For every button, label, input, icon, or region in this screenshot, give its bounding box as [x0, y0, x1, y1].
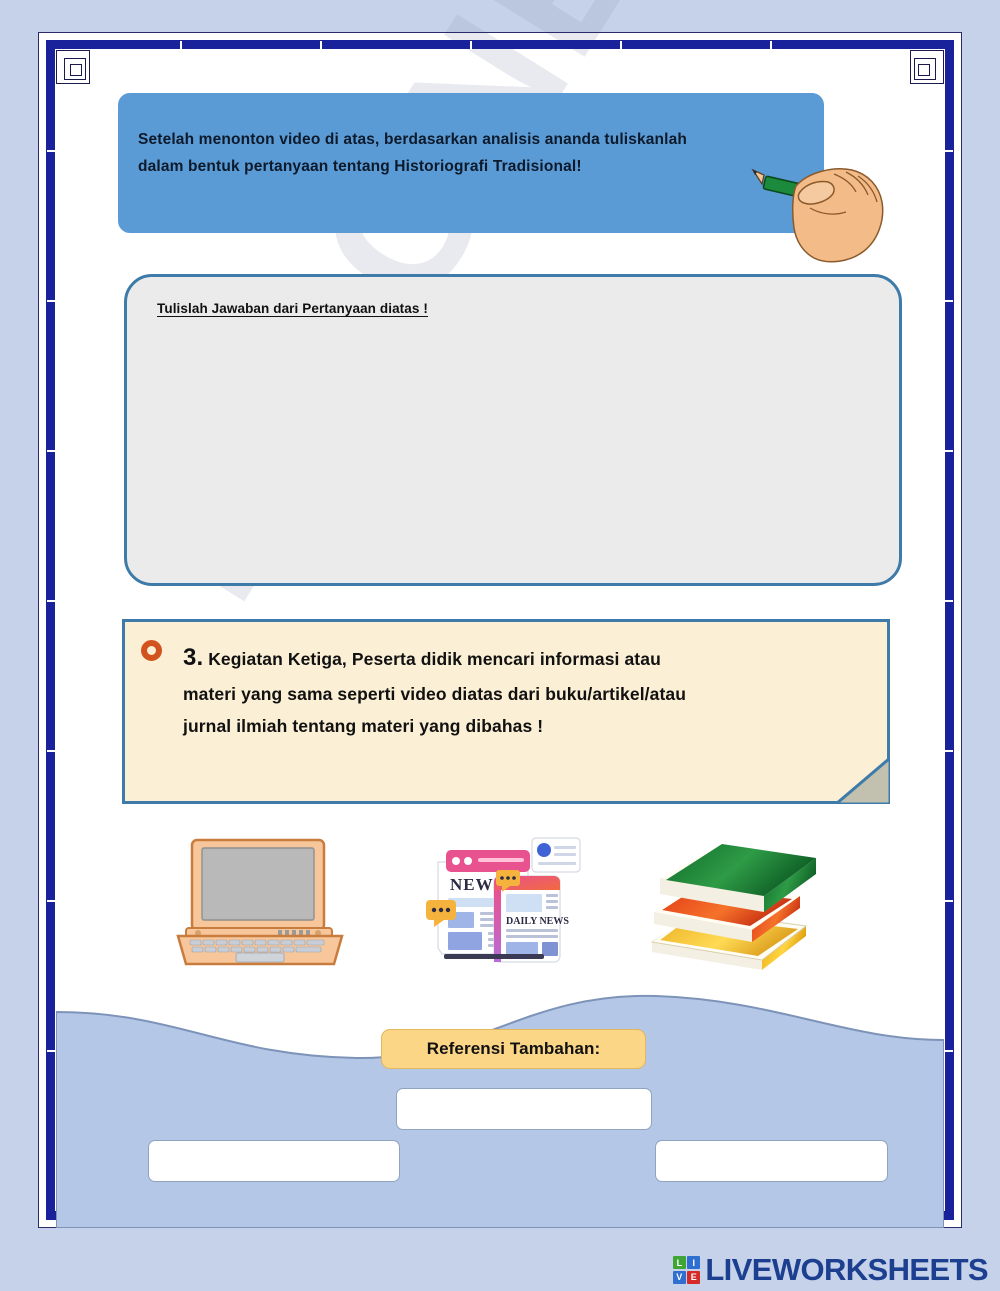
frame-tick	[470, 41, 472, 50]
frame-tick	[47, 450, 56, 452]
frame-tick	[620, 41, 622, 50]
frame-tick	[320, 41, 322, 50]
logo-cell-l: L	[673, 1256, 686, 1269]
reference-blank-left[interactable]	[148, 1140, 400, 1182]
frame-tick	[47, 750, 56, 752]
frame-tick	[944, 300, 953, 302]
activity-note-3: 3. Kegiatan Ketiga, Peserta didik mencar…	[122, 619, 890, 804]
resource-illustrations-row: NEWS	[120, 826, 900, 976]
liveworksheets-logo-mark: L I V E	[673, 1256, 701, 1284]
frame-tick	[180, 41, 182, 50]
logo-cell-i: I	[687, 1256, 700, 1269]
reference-blank-top[interactable]	[396, 1088, 652, 1130]
corner-ornament-top-left-inner	[70, 64, 82, 76]
frame-tick	[944, 150, 953, 152]
books-stack-illustration	[630, 830, 830, 975]
liveworksheets-logo[interactable]: L I V E LIVEWORKSHEETS	[673, 1252, 988, 1288]
reference-label-chip: Referensi Tambahan:	[381, 1029, 646, 1069]
frame-tick	[47, 900, 56, 902]
worksheet-page: INDONESIA Setelah menonton video di atas…	[0, 0, 1000, 1291]
answer-box-label: Tulislah Jawaban dari Pertanyaan diatas …	[157, 301, 899, 316]
logo-cell-v: V	[673, 1271, 686, 1284]
frame-tick	[47, 1050, 56, 1052]
logo-cell-e: E	[687, 1271, 700, 1284]
instruction-callout: Setelah menonton video di atas, berdasar…	[118, 93, 824, 233]
laptop-illustration	[160, 836, 360, 971]
frame-tick	[47, 300, 56, 302]
frame-tick	[944, 1050, 953, 1052]
frame-tick	[770, 41, 772, 50]
frame-tick	[944, 750, 953, 752]
ring-bullet-icon	[141, 640, 162, 661]
hand-with-pencil-icon	[748, 148, 898, 268]
svg-text:DAILY NEWS: DAILY NEWS	[506, 916, 569, 927]
frame-tick	[944, 450, 953, 452]
instruction-text-2-bold: Historiografi Tradisional!	[394, 158, 581, 175]
liveworksheets-wordmark: LIVEWORKSHEETS	[705, 1252, 988, 1288]
activity-line-3: jurnal ilmiah tentang materi yang dibaha…	[183, 716, 543, 736]
instruction-text-1: Setelah menonton video di atas, berdasar…	[138, 131, 687, 148]
newspaper-illustration: NEWS	[420, 828, 590, 973]
activity-line-1: Kegiatan Ketiga, Peserta didik mencari i…	[208, 649, 661, 669]
instruction-text-2: dalam bentuk pertanyaan tentang	[138, 158, 394, 175]
activity-line-2: materi yang sama seperti video diatas da…	[183, 684, 686, 704]
frame-tick	[47, 600, 56, 602]
answer-textarea-box[interactable]: Tulislah Jawaban dari Pertanyaan diatas …	[124, 274, 902, 586]
instruction-line-1: Setelah menonton video di atas, berdasar…	[138, 127, 782, 180]
frame-tick	[944, 900, 953, 902]
frame-tick	[47, 150, 56, 152]
folded-corner-ornament	[836, 758, 890, 804]
reference-blank-right[interactable]	[655, 1140, 888, 1182]
reference-label-text: Referensi Tambahan:	[427, 1039, 601, 1059]
frame-tick	[944, 600, 953, 602]
corner-ornament-top-right-inner	[918, 64, 930, 76]
activity-number: 3.	[183, 644, 203, 671]
activity-note-text: 3. Kegiatan Ketiga, Peserta didik mencar…	[183, 636, 847, 742]
